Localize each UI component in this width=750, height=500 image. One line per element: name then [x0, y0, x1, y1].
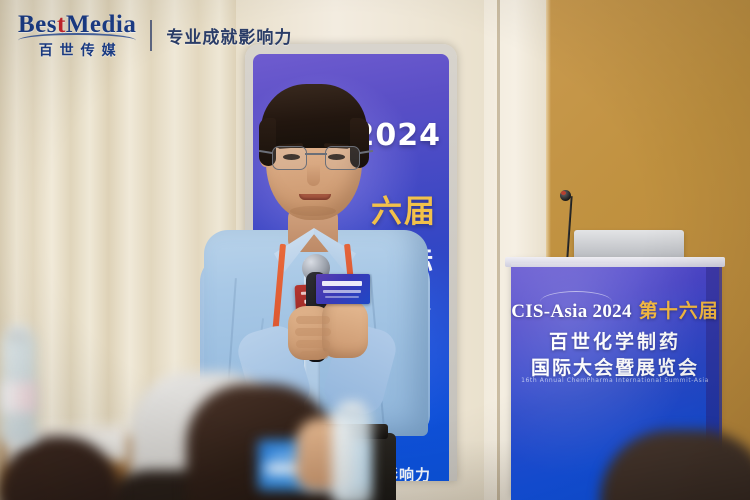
- mic-flag-tag-line: [325, 296, 359, 298]
- eyeglass-lens-left: [272, 146, 307, 170]
- speaker-finger-1: [296, 316, 330, 324]
- eyeglass-bridge: [305, 153, 327, 155]
- wall-seam: [497, 0, 500, 500]
- logo-chinese-text: 百世传媒: [32, 44, 123, 58]
- speaker-nose: [307, 164, 320, 186]
- foreground-bottle-cap-center: [340, 402, 364, 416]
- podium-line-3: 国际大会暨展览会: [511, 353, 719, 380]
- speaker-mouth: [299, 194, 331, 200]
- speaker-finger-2: [295, 328, 331, 336]
- watermark-logo-bar: BestMedia 百世传媒 专业成就影响力: [18, 12, 292, 58]
- podium-top-surface: [505, 257, 725, 267]
- conference-photo: 2024 六届 际 会 开发 影响力 CIS-Asia 2024第十六届 百世化…: [0, 0, 750, 500]
- podium-subtitle-en: 16th Annual ChemPharma International Sum…: [511, 377, 719, 384]
- podium-title-row: CIS-Asia 2024第十六届: [511, 296, 719, 323]
- speaker-finger-3: [296, 340, 330, 348]
- speaker-chin-shadow: [290, 206, 336, 216]
- foreground-bottle-label-left: [2, 382, 36, 412]
- logo-swoosh-arc: [18, 33, 136, 42]
- mic-flag-sub-line: [323, 290, 361, 293]
- best-media-logo: BestMedia 百世传媒: [18, 12, 136, 58]
- logo-divider: [150, 20, 152, 51]
- podium-title-en: CIS-Asia 2024: [511, 301, 632, 322]
- stand-microphone-indicator: [561, 191, 566, 195]
- logo-tagline: 专业成就影响力: [166, 23, 292, 48]
- foreground-bottle-cap-left: [8, 326, 30, 340]
- speaker-finger-4: [300, 351, 329, 359]
- podium-line-2: 百世化学制药: [511, 327, 719, 354]
- foreground-water-bottle-center: [332, 410, 372, 500]
- microphone-flag-badge: [316, 274, 370, 304]
- mic-flag-brand-line: [322, 281, 362, 286]
- eyeglass-lens-right: [325, 146, 360, 170]
- podium-title-cn: 第十六届: [639, 300, 719, 322]
